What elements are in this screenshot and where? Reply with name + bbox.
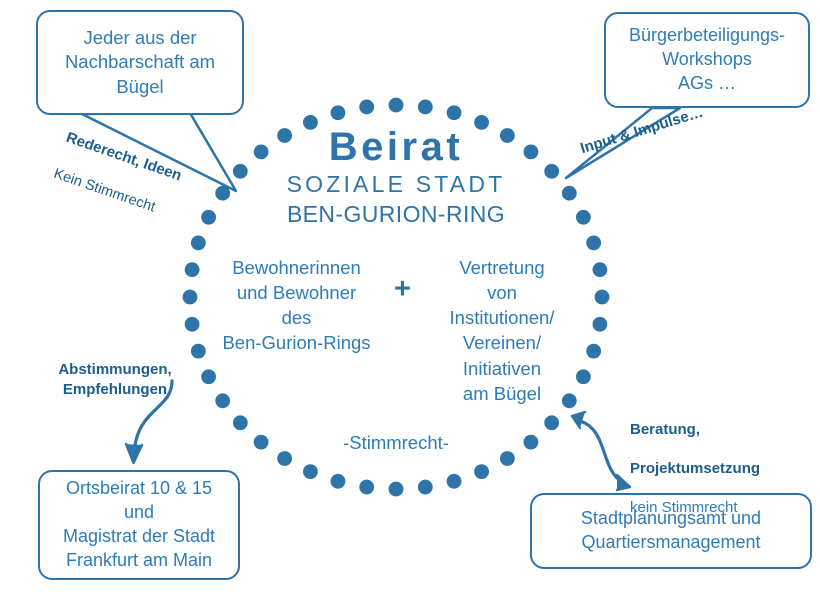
diagram-canvas: Jeder aus der Nachbarschaft am Bügel Bür… <box>0 0 820 600</box>
ring-dot <box>576 369 591 384</box>
bubble-participation[interactable]: Bürgerbeteiligungs- Workshops AGs … <box>604 12 810 108</box>
ring-dot <box>544 415 559 430</box>
ring-dot <box>233 415 248 430</box>
ring-dot <box>474 115 489 130</box>
arrow-beratung <box>580 421 622 482</box>
page-title: Beirat <box>196 126 596 168</box>
ring-dot <box>185 262 200 277</box>
ring-dot <box>418 480 433 495</box>
column-residents: Bewohnerinnen und Bewohner des Ben-Gurio… <box>208 255 386 356</box>
center-columns: Bewohnerinnen und Bewohner des Ben-Gurio… <box>196 255 596 406</box>
ring-dot <box>389 482 404 497</box>
ring-dot <box>593 317 608 332</box>
plus-icon: + <box>386 255 420 304</box>
caption-beratung-line2: Projektumsetzung <box>630 459 808 479</box>
ring-dot <box>389 98 404 113</box>
ring-dot <box>215 393 230 408</box>
ring-dot <box>447 105 462 120</box>
caption-rederecht: Rederecht, Ideen Kein Stimmrecht <box>45 110 190 239</box>
caption-beratung-line3: kein Stimmrecht <box>630 498 808 518</box>
ring-dot <box>185 317 200 332</box>
ring-dot <box>359 100 374 115</box>
ring-dot <box>586 344 601 359</box>
column-institutions: Vertretung von Institutionen/ Vereinen/ … <box>420 255 585 406</box>
caption-beratung: Beratung, Projektumsetzung kein Stimmrec… <box>630 400 808 537</box>
ring-dot <box>277 128 292 143</box>
caption-abstimmungen: Abstimmungen, Empfehlungen <box>40 360 190 399</box>
ring-dot <box>524 435 539 450</box>
arrow-abstimmungen-head <box>126 444 142 463</box>
ring-dot <box>500 128 515 143</box>
ring-dot <box>593 262 608 277</box>
ring-dot <box>500 451 515 466</box>
subtitle-ben-gurion-ring: BEN-GURION-RING <box>196 200 596 229</box>
ring-dot <box>331 474 346 489</box>
ring-dot <box>359 480 374 495</box>
ring-dot <box>524 145 539 160</box>
ring-dot <box>201 369 216 384</box>
ring-dot <box>418 100 433 115</box>
caption-input-impulse: Input & Impulse… <box>578 103 706 159</box>
ring-dot <box>474 464 489 479</box>
ring-dot <box>233 164 248 179</box>
arrow-beratung-head-up <box>572 412 585 428</box>
label-voting-right: -Stimmrecht- <box>296 432 496 454</box>
ring-dot <box>595 290 610 305</box>
ring-dot <box>254 435 269 450</box>
ring-dot <box>201 210 216 225</box>
caption-beratung-line1: Beratung, <box>630 420 808 440</box>
ring-dot <box>562 393 577 408</box>
ring-dot <box>215 186 230 201</box>
ring-dot <box>191 344 206 359</box>
ring-dot <box>544 164 559 179</box>
bubble-local-council[interactable]: Ortsbeirat 10 & 15 und Magistrat der Sta… <box>38 470 240 580</box>
bubble-neighbourhood[interactable]: Jeder aus der Nachbarschaft am Bügel <box>36 10 244 115</box>
ring-dot <box>191 236 206 251</box>
ring-dot <box>576 210 591 225</box>
ring-dot <box>254 145 269 160</box>
ring-dot <box>331 105 346 120</box>
center-title-block: Beirat SOZIALE STADT BEN-GURION-RING <box>196 126 596 229</box>
ring-dot <box>303 464 318 479</box>
ring-dot <box>303 115 318 130</box>
ring-dot <box>277 451 292 466</box>
ring-dot <box>562 186 577 201</box>
ring-dot <box>183 290 198 305</box>
ring-dot <box>586 236 601 251</box>
arrow-beratung-head-down <box>617 475 630 490</box>
ring-dot <box>447 474 462 489</box>
subtitle-soziale-stadt: SOZIALE STADT <box>196 170 596 200</box>
